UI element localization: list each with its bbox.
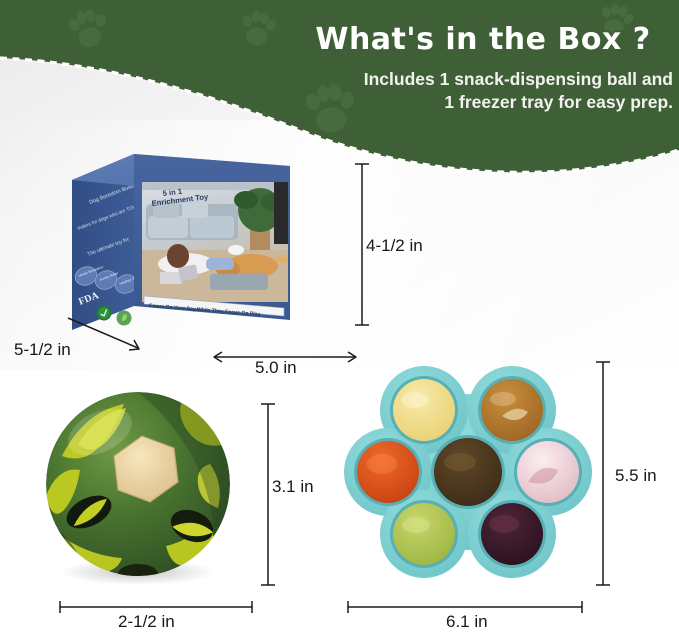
page-title: What's in the Box ? xyxy=(287,22,679,57)
dimension-label-ball-height: 3.1 in xyxy=(272,477,314,497)
tray-well-center xyxy=(431,435,505,509)
tray-well-bottom-left xyxy=(390,500,458,568)
dimension-label-box-height: 4-1/2 in xyxy=(366,236,423,256)
dimension-label-tray-height: 5.5 in xyxy=(615,466,657,486)
dimension-label-box-depth: 5-1/2 in xyxy=(14,340,71,360)
tray-well-bottom-right xyxy=(478,500,546,568)
snack-dispensing-ball xyxy=(42,386,242,586)
dimension-label-box-width: 5.0 in xyxy=(255,358,297,378)
freezer-tray xyxy=(352,360,584,585)
header-subtitle-line1: Includes 1 snack-dispensing ball and xyxy=(287,68,673,91)
tray-well-mid-left xyxy=(354,438,422,506)
dimension-label-ball-width: 2-1/2 in xyxy=(118,612,175,632)
tray-well-top-left xyxy=(390,376,458,444)
tray-well-top-right xyxy=(478,376,546,444)
header-subtitle-line2: 1 freezer tray for easy prep. xyxy=(287,91,673,114)
tray-well-mid-right xyxy=(514,438,582,506)
infographic-canvas: What's in the Box ? Includes 1 snack-dis… xyxy=(0,0,679,636)
dimension-label-tray-width: 6.1 in xyxy=(446,612,488,632)
header-subtitle: Includes 1 snack-dispensing ball and 1 f… xyxy=(287,68,679,114)
